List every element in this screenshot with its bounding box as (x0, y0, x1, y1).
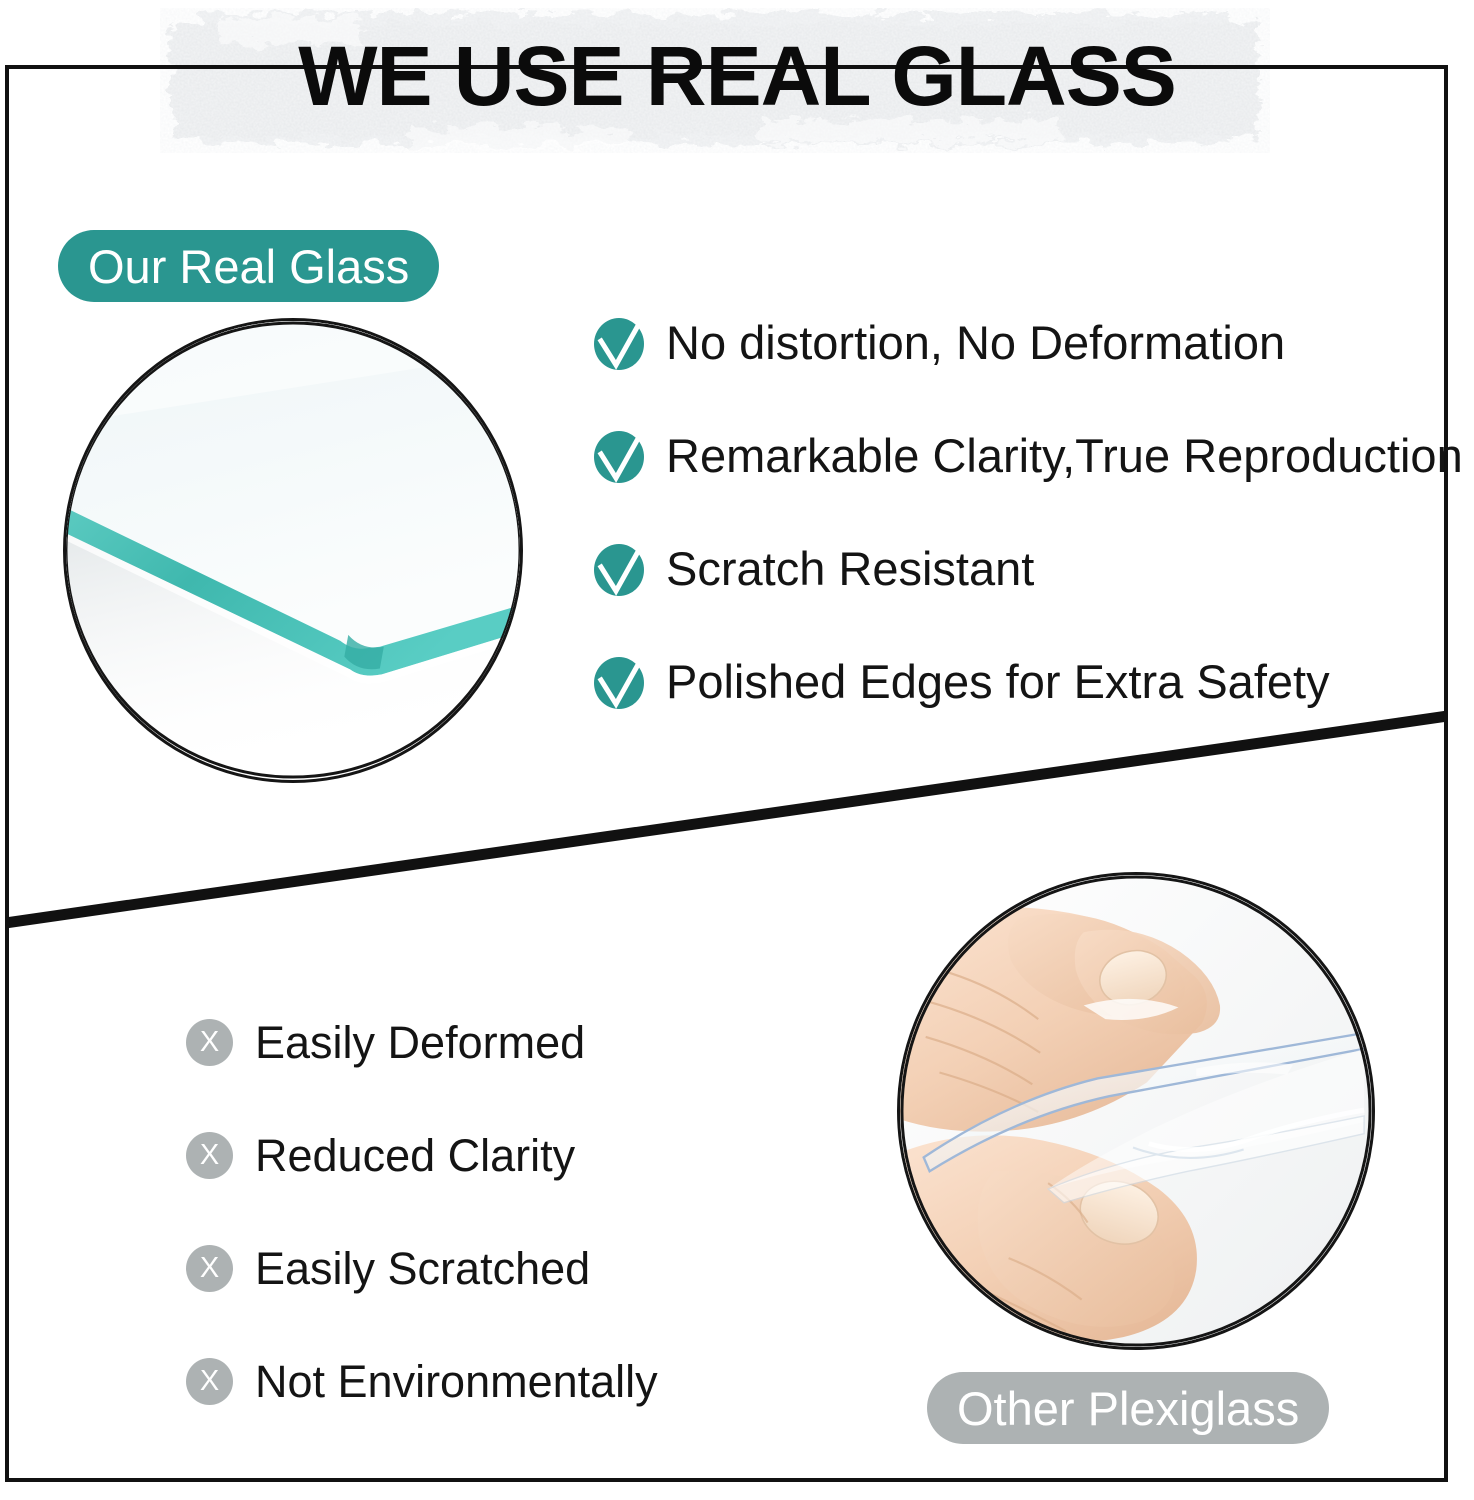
list-item: X Not Environmentally (186, 1325, 806, 1438)
list-item: X Easily Scratched (186, 1212, 806, 1325)
list-item-label: Scratch Resistant (666, 545, 1034, 592)
list-item: X Reduced Clarity (186, 1099, 806, 1212)
x-circle-glyph: X (200, 1141, 219, 1170)
badge-our-real-glass: Our Real Glass (58, 230, 439, 302)
check-circle-glyph (592, 315, 646, 371)
real-glass-illustration (66, 321, 520, 780)
list-item-label: No distortion, No Deformation (666, 319, 1285, 366)
list-item-label: Polished Edges for Extra Safety (666, 658, 1330, 705)
badge-other-plexiglass: Other Plexiglass (927, 1372, 1329, 1444)
list-item: No distortion, No Deformation (592, 286, 1472, 399)
list-item: X Easily Deformed (186, 986, 806, 1099)
list-item: Polished Edges for Extra Safety (592, 625, 1472, 738)
page-title: WE USE REAL GLASS (0, 28, 1474, 125)
check-circle-glyph (592, 541, 646, 597)
list-item-label: Remarkable Clarity,True Reproduction (666, 432, 1463, 479)
cons-list: X Easily Deformed X Reduced Clarity X Ea… (186, 986, 806, 1438)
list-item-label: Not Environmentally (255, 1359, 658, 1404)
x-circle-icon: X (186, 1245, 233, 1292)
check-circle-glyph (592, 654, 646, 710)
x-circle-glyph: X (200, 1254, 219, 1283)
check-circle-icon (592, 428, 646, 484)
x-circle-icon: X (186, 1358, 233, 1405)
list-item-label: Easily Deformed (255, 1020, 585, 1065)
list-item-label: Reduced Clarity (255, 1133, 575, 1178)
x-circle-icon: X (186, 1019, 233, 1066)
x-circle-icon: X (186, 1132, 233, 1179)
check-circle-icon (592, 654, 646, 710)
plexiglass-photo (897, 872, 1375, 1350)
x-circle-glyph: X (200, 1028, 219, 1057)
badge-other-plexiglass-label: Other Plexiglass (957, 1385, 1299, 1432)
plexiglass-illustration (900, 875, 1372, 1347)
check-circle-icon (592, 541, 646, 597)
check-circle-glyph (592, 428, 646, 484)
real-glass-photo (63, 318, 523, 783)
infographic-canvas: WE USE REAL GLASS Our Real Glass (0, 0, 1474, 1500)
pros-list: No distortion, No Deformation Remarkable… (592, 286, 1472, 738)
list-item: Scratch Resistant (592, 512, 1472, 625)
list-item-label: Easily Scratched (255, 1246, 590, 1291)
check-circle-icon (592, 315, 646, 371)
list-item: Remarkable Clarity,True Reproduction (592, 399, 1472, 512)
x-circle-glyph: X (200, 1367, 219, 1396)
badge-our-real-glass-label: Our Real Glass (88, 243, 409, 290)
